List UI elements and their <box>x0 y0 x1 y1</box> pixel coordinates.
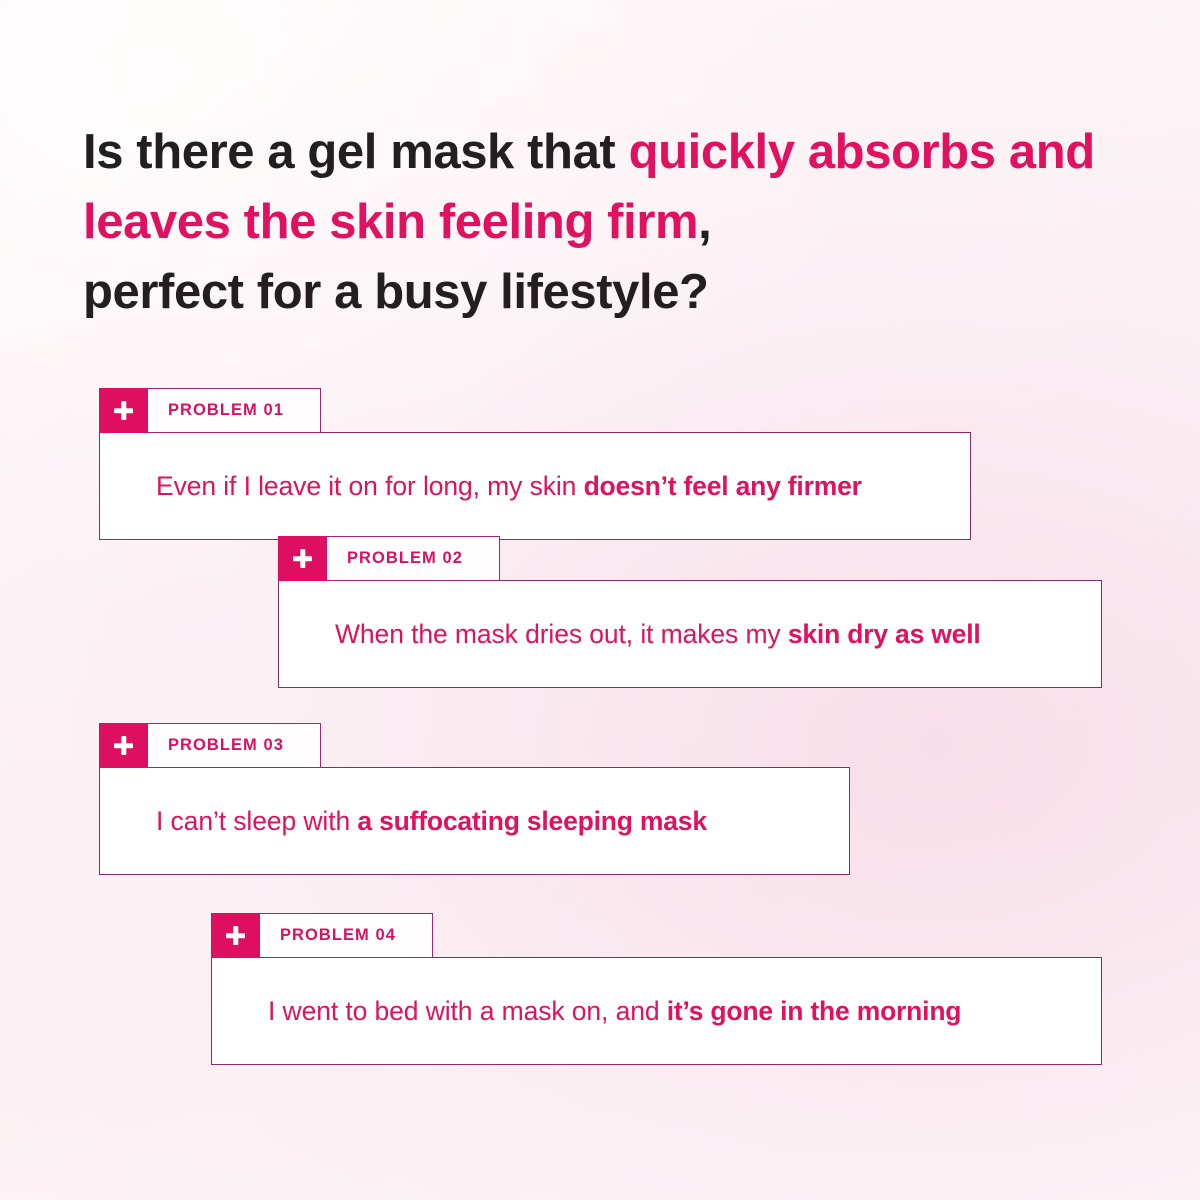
promo-page: Is there a gel mask that quickly absorbs… <box>0 0 1200 1200</box>
problem-body-03: I can’t sleep with a suffocating sleepin… <box>99 767 850 875</box>
problem-text-02: When the mask dries out, it makes my ski… <box>279 617 1011 651</box>
problem-card-02[interactable]: PROBLEM 02 When the mask dries out, it m… <box>278 536 1102 688</box>
problem-text-plain-01: Even if I leave it on for long, my skin <box>156 471 584 501</box>
problem-text-bold-02: skin dry as well <box>788 619 981 649</box>
problem-text-bold-01: doesn’t feel any firmer <box>584 471 862 501</box>
problem-text-bold-04: it’s gone in the morning <box>667 996 962 1026</box>
expand-badge-02[interactable] <box>278 536 327 581</box>
expand-badge-04[interactable] <box>211 913 260 958</box>
plus-icon <box>114 401 133 420</box>
problem-tab-02[interactable]: PROBLEM 02 <box>278 536 500 581</box>
plus-icon <box>226 926 245 945</box>
problem-tab-label-02: PROBLEM 02 <box>327 536 500 581</box>
problem-card-01[interactable]: PROBLEM 01 Even if I leave it on for lon… <box>99 388 971 540</box>
page-headline: Is there a gel mask that quickly absorbs… <box>83 117 1113 327</box>
problem-card-03[interactable]: PROBLEM 03 I can’t sleep with a suffocat… <box>99 723 850 875</box>
expand-badge-03[interactable] <box>99 723 148 768</box>
problem-text-bold-03: a suffocating sleeping mask <box>357 806 707 836</box>
problem-card-04[interactable]: PROBLEM 04 I went to bed with a mask on,… <box>211 913 1102 1065</box>
problem-text-03: I can’t sleep with a suffocating sleepin… <box>100 804 737 838</box>
expand-badge-01[interactable] <box>99 388 148 433</box>
plus-icon <box>114 736 133 755</box>
problem-tab-label-01: PROBLEM 01 <box>148 388 321 433</box>
problem-text-01: Even if I leave it on for long, my skin … <box>100 469 892 503</box>
problem-text-plain-02: When the mask dries out, it makes my <box>335 619 788 649</box>
problem-body-02: When the mask dries out, it makes my ski… <box>278 580 1102 688</box>
problem-tab-label-04: PROBLEM 04 <box>260 913 433 958</box>
problem-tab-01[interactable]: PROBLEM 01 <box>99 388 321 433</box>
problem-body-01: Even if I leave it on for long, my skin … <box>99 432 971 540</box>
problem-tab-03[interactable]: PROBLEM 03 <box>99 723 321 768</box>
headline-segment-plain-1: Is there a gel mask that <box>83 125 629 179</box>
problem-tab-04[interactable]: PROBLEM 04 <box>211 913 433 958</box>
problem-text-04: I went to bed with a mask on, and it’s g… <box>212 994 991 1028</box>
problem-tab-label-03: PROBLEM 03 <box>148 723 321 768</box>
problem-text-plain-04: I went to bed with a mask on, and <box>268 996 667 1026</box>
problem-body-04: I went to bed with a mask on, and it’s g… <box>211 957 1102 1065</box>
problem-text-plain-03: I can’t sleep with <box>156 806 357 836</box>
plus-icon <box>293 549 312 568</box>
